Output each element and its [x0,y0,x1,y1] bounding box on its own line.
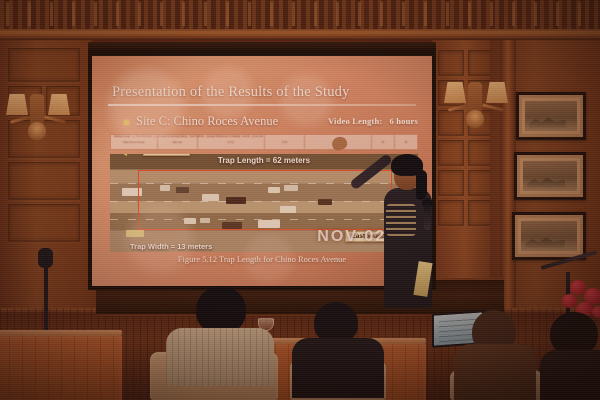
cornice-moulding [0,29,600,40]
picture-artwork [521,221,577,251]
wall-sconce-right [444,76,508,142]
bullet-square-icon [124,120,129,125]
panel-box [438,50,464,76]
sconce-arm [448,103,470,111]
draped-banquet-table-left [0,336,122,400]
decorative-ceiling-frieze [0,0,600,30]
slide-data-table: Parking Garage Flow Direction No. of Lan… [110,134,418,150]
trap-width-label: Trap Width = 13 meters [130,242,212,251]
westbound-label: Westbound [143,154,190,156]
sconce-bell [28,122,46,140]
sconce-arm [10,115,32,123]
lamp-shade [486,82,508,103]
presenter-speaking [378,146,442,336]
arrow-left-icon [118,154,127,156]
table-cell: One way [158,135,198,149]
table-cell: Chino Roces Avenue [111,135,158,149]
audience-member-long-hair [452,310,538,400]
sconce-arm [482,103,504,111]
lamp-shade [48,94,70,115]
hair-and-shoulders [454,344,536,400]
framed-picture-bottom [512,212,586,260]
westbound-direction-tag: Westbound [118,154,190,156]
table-row: Chino Roces Avenue One way 4 (+1) 7,214 … [111,135,417,149]
picture-mat [520,158,580,194]
shirt-stripes [166,328,274,386]
microphone-body [424,204,431,230]
sconce-arm [44,115,66,123]
presenter-hair-back [416,170,427,200]
title-divider [108,104,416,106]
audience-member-right [540,312,600,400]
picture-artwork [525,101,577,131]
audience-member-dark-suit [292,302,384,394]
slide-title: Presentation of the Results of the Study [112,84,410,101]
sconce-bell [466,110,484,128]
table-cell: 4 (+1) [198,135,265,149]
slide-bullet-text: Site C: Chino Roces Avenue [136,114,278,129]
video-length-value: 6 hours [389,116,418,126]
lamp-shade [444,82,466,103]
flower [562,294,577,308]
vehicle [126,230,144,237]
drape-folds [0,336,122,400]
framed-picture-top [516,92,586,140]
figure-caption: Figure 5.12 Trap Length for Chino Roces … [98,254,426,264]
frieze-diamond-pattern [0,2,600,26]
conference-room-scene: Presentation of the Results of the Study… [0,0,600,400]
trap-length-label: Trap Length = 62 meters [218,156,310,165]
picture-mat [522,98,580,134]
lamp-shade [6,94,28,115]
picture-mat [518,218,580,254]
picture-artwork [523,161,577,191]
audience-member-striped-shirt [166,286,274,382]
presenter-shirt-stripes [386,204,416,236]
video-length-note: Video Length: 6 hours [328,116,418,126]
video-length-label: Video Length: [328,116,382,126]
wall-sconce-left [6,88,70,154]
panel-box [8,204,80,242]
torso [540,350,600,400]
panel-box [8,162,80,200]
head [196,286,246,334]
torso [292,338,384,398]
table-cell: 7,214 [265,135,305,149]
framed-picture-middle [514,152,586,200]
panel-box [8,48,80,82]
